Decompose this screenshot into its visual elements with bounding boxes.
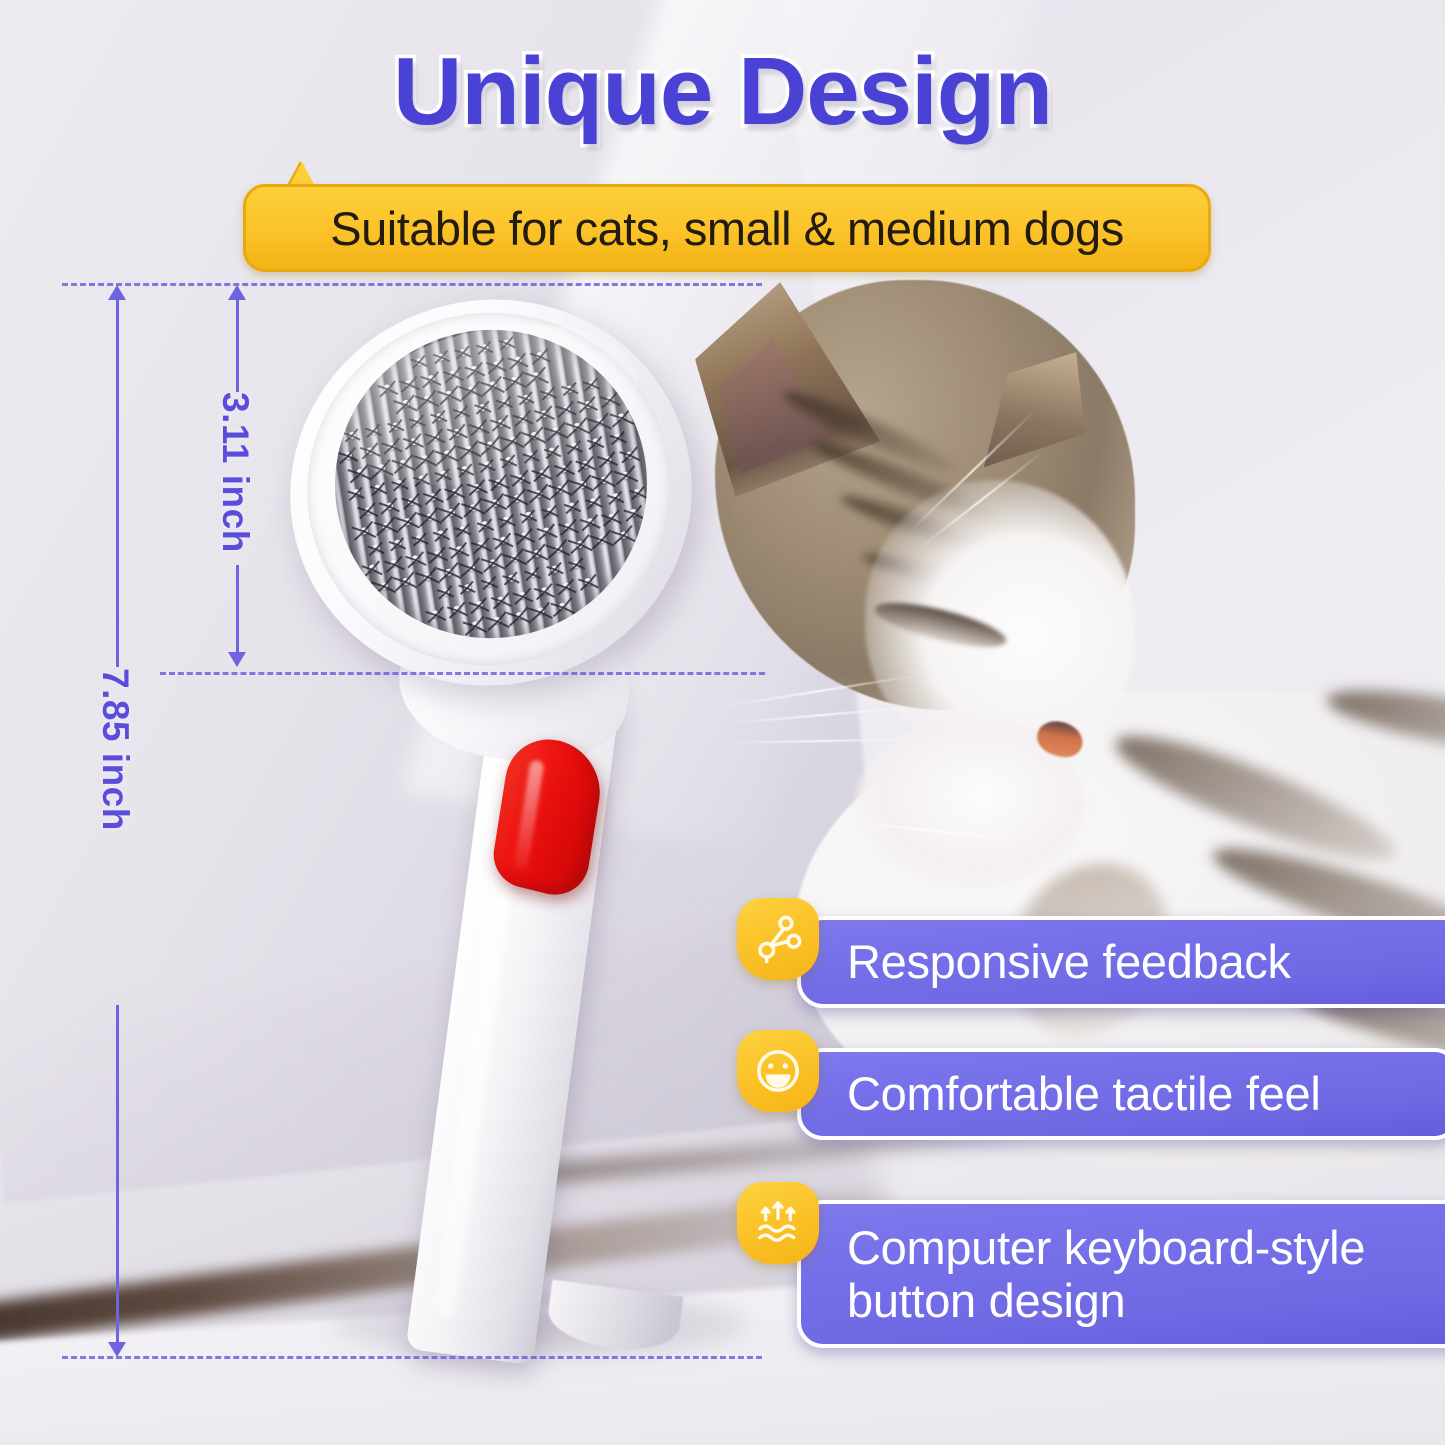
bristle-wire xyxy=(612,517,623,524)
bristle-wire xyxy=(623,535,636,542)
bristle-wire xyxy=(416,559,427,566)
bristle-wire xyxy=(541,611,554,618)
bristle-wire xyxy=(400,484,409,490)
bristle-wire xyxy=(616,475,627,485)
bristle-wire xyxy=(469,449,482,456)
bristle-wire xyxy=(372,568,383,575)
bristle-wire xyxy=(607,459,618,466)
bristle-wire xyxy=(526,398,535,404)
bristle-wire xyxy=(566,409,577,416)
bristle-wire xyxy=(503,541,514,548)
bristle-wire xyxy=(352,435,361,441)
bristle-wire xyxy=(398,522,409,532)
bristle-wire xyxy=(558,549,571,556)
bristle-wire xyxy=(463,529,472,535)
dim-arrow-up-head xyxy=(228,285,246,300)
bristle-wire xyxy=(550,511,559,517)
bristle-wire xyxy=(588,404,599,411)
bristle-wire xyxy=(479,428,490,435)
infographic-page: 3.11 inch 7.85 inch Unique Design Suitab… xyxy=(0,0,1445,1445)
bristle-wire xyxy=(556,431,569,438)
bristle-wire xyxy=(373,430,382,436)
feature-pill: Comfortable tactile feel xyxy=(797,1048,1445,1140)
bristle-wire xyxy=(381,468,394,475)
feature-pill: Computer keyboard-style button design xyxy=(797,1200,1445,1348)
bristle-wire xyxy=(460,588,468,596)
feature-label: Computer keyboard-style button design xyxy=(801,1221,1365,1327)
bristle-wire xyxy=(506,520,515,526)
feature-label: Comfortable tactile feel xyxy=(801,1067,1320,1120)
bristle-wire xyxy=(496,365,507,372)
bristle-wire xyxy=(493,385,506,392)
bristle-wire xyxy=(441,534,450,540)
dim-arrow-down-head xyxy=(228,652,246,667)
bristle-wire xyxy=(590,522,601,529)
bristle-wire xyxy=(479,605,490,612)
bristle-wire xyxy=(528,515,537,521)
bristle-wire xyxy=(596,442,605,448)
bristle-wire xyxy=(540,356,551,363)
bristle-wire xyxy=(594,502,603,508)
bristle-wire xyxy=(586,464,597,471)
bristle-wire xyxy=(419,362,428,368)
dim-line-bottom xyxy=(62,1356,762,1359)
bristle-wire xyxy=(588,582,599,589)
bristle-wire xyxy=(386,526,399,533)
bristle-wire xyxy=(487,465,496,471)
subtitle-text: Suitable for cats, small & medium dogs xyxy=(330,201,1123,256)
bristle-wire xyxy=(544,591,555,598)
dim-axis-total-lower xyxy=(116,1005,119,1345)
bristle-wire xyxy=(409,383,420,390)
bristle-wire xyxy=(481,545,492,552)
bristle-wire xyxy=(364,531,377,538)
subtitle-banner: Suitable for cats, small & medium dogs xyxy=(243,184,1211,272)
bristle-wire xyxy=(437,554,448,561)
dim-label-head: 3.11 inch xyxy=(214,392,256,553)
bristle-wire xyxy=(397,543,406,549)
bristle-wire xyxy=(552,451,561,457)
dim-line-middle xyxy=(160,672,765,675)
bristle-wire xyxy=(475,625,488,632)
bristle-wire xyxy=(574,447,583,453)
bristle-wire xyxy=(621,417,634,424)
bristle-wire xyxy=(412,362,420,370)
bristle-wire xyxy=(485,348,494,354)
bristle-wire xyxy=(443,475,452,481)
share-node-icon xyxy=(737,898,819,980)
bristle-wire xyxy=(435,437,446,444)
bristle-wire xyxy=(403,463,416,470)
feature-pill: Responsive feedback xyxy=(797,916,1445,1008)
bristle-wire xyxy=(348,455,359,462)
bristle-wire xyxy=(536,376,549,383)
bristle-wire xyxy=(490,445,503,452)
bristle-wire xyxy=(525,536,536,543)
bristle-wire xyxy=(626,475,639,482)
bristle-wire xyxy=(427,399,440,406)
bounce-waves-icon xyxy=(737,1182,819,1264)
bristle-wire xyxy=(413,441,424,448)
bristle-wire xyxy=(518,360,529,367)
bristle-wire xyxy=(550,489,561,499)
bristle-wire xyxy=(538,494,551,501)
bristle-wire xyxy=(512,440,525,447)
bristle-wire xyxy=(474,369,485,376)
dim-axis-total-upper xyxy=(116,292,119,667)
dim-line-top xyxy=(62,283,762,286)
bristle-wire xyxy=(501,423,512,430)
bristle-wire xyxy=(534,436,547,443)
bristle-wire xyxy=(457,609,468,616)
feature-label: Responsive feedback xyxy=(801,935,1291,988)
bristle-wire xyxy=(504,403,513,409)
bristle-wire xyxy=(604,480,617,487)
bristle-wire xyxy=(467,587,476,593)
bristle-wire xyxy=(528,494,539,504)
bristle-wire xyxy=(566,586,577,593)
bristle-wire xyxy=(431,379,442,386)
bristle-wire xyxy=(421,479,430,485)
bristle-wire xyxy=(356,493,365,499)
bristle-wire xyxy=(439,416,448,422)
cat-whisker xyxy=(720,705,924,725)
bristle-wire xyxy=(533,574,542,580)
bristle-wire xyxy=(471,567,484,574)
bristle-wire xyxy=(578,426,591,433)
bristle-wire xyxy=(376,526,387,536)
bristle-wire xyxy=(562,607,575,614)
dim-axis-head-lower xyxy=(236,565,239,655)
bristle-wire xyxy=(360,473,373,480)
bristle-wire xyxy=(459,550,470,557)
bristle-wire xyxy=(599,422,612,429)
page-title: Unique Design xyxy=(0,44,1445,140)
bristle-wire xyxy=(455,492,466,499)
dim-arrow-up-total xyxy=(108,285,126,300)
bristle-wire xyxy=(387,388,398,395)
bristle-wire xyxy=(522,595,533,602)
smiley-face-icon xyxy=(737,1030,819,1112)
bristle-wire xyxy=(520,478,531,485)
bristle-wire xyxy=(368,510,379,517)
dim-label-total: 7.85 inch xyxy=(94,668,136,831)
bristle-wire xyxy=(463,508,474,518)
bristle-wire xyxy=(591,384,600,390)
dim-axis-head-upper xyxy=(236,292,239,392)
bristle-wire xyxy=(376,548,385,554)
bristle-wire xyxy=(509,461,518,467)
bristle-wire xyxy=(451,512,464,519)
bristle-wire xyxy=(615,497,624,503)
bristle-wire xyxy=(425,459,438,466)
dim-arrow-down-total xyxy=(108,1342,126,1357)
bristle-wire xyxy=(389,506,400,513)
bristle-wire xyxy=(435,614,446,621)
bristle-wire xyxy=(568,527,579,534)
bristle-wire xyxy=(634,513,645,520)
bristle-wire xyxy=(433,496,444,503)
bristle-wire xyxy=(405,581,418,588)
bristle-wire xyxy=(447,454,460,461)
bristle-wire xyxy=(517,498,530,505)
bristle-wire xyxy=(542,473,553,480)
